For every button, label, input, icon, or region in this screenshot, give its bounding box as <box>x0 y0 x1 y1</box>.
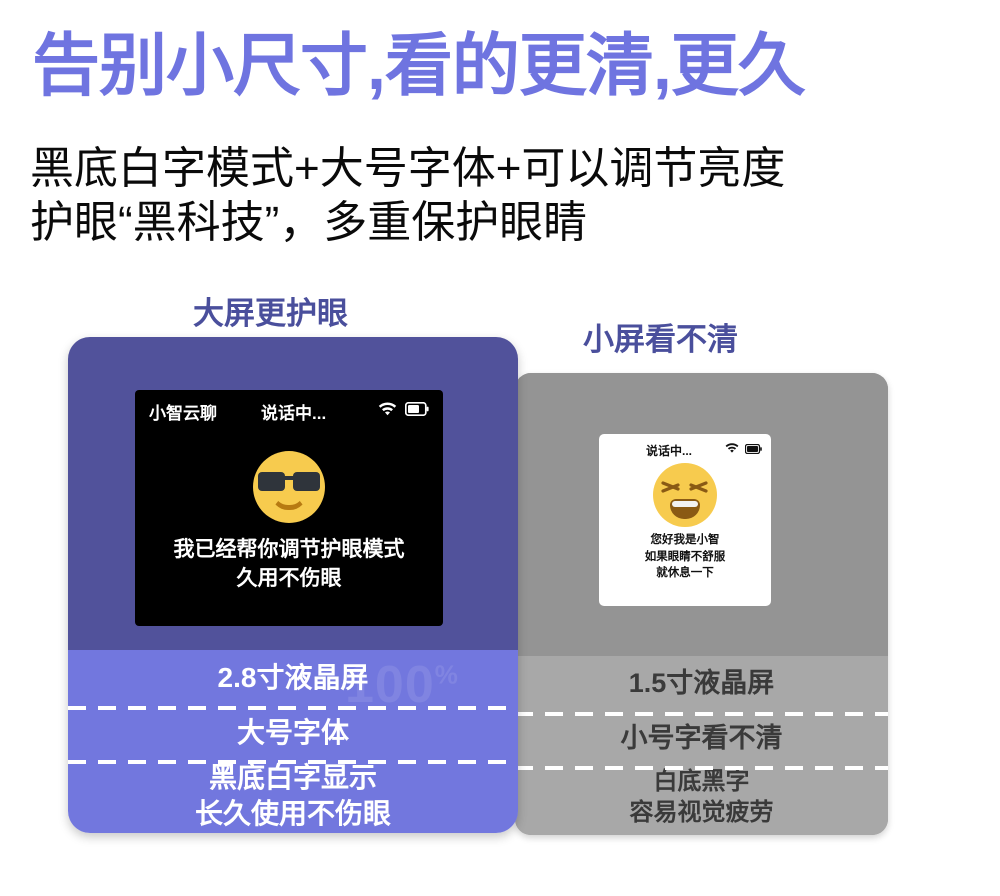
small-feature-3-line-1: 白底黑字 <box>630 766 774 797</box>
small-message-line-2: 如果眼睛不舒服 <box>645 549 726 566</box>
small-device-feature-rows: 1.5寸液晶屏 小号字看不清 白底黑字 容易视觉疲劳 <box>515 656 888 835</box>
row-divider-dashed <box>515 712 888 716</box>
page-title: 告别小尺寸,看的更清,更久 <box>32 32 805 100</box>
small-message-line-3: 就休息一下 <box>645 565 726 582</box>
weary-eye-left <box>661 480 681 496</box>
row-divider-dashed <box>68 706 518 710</box>
big-status-text: 说话中... <box>261 399 326 424</box>
big-feature-row-2: 大号字体 <box>68 706 518 760</box>
sunglasses-lens-left <box>258 472 285 491</box>
caption-big-screen: 大屏更护眼 <box>193 288 348 333</box>
big-device-card: 小智云聊 说话中... <box>68 337 518 833</box>
battery-icon <box>745 441 762 459</box>
big-feature-2-label: 大号字体 <box>237 715 349 751</box>
wifi-icon <box>378 402 397 422</box>
big-device-screen: 小智云聊 说话中... <box>135 390 443 626</box>
battery-icon <box>405 402 429 421</box>
weary-mouth <box>670 499 700 519</box>
weary-face-emoji <box>653 463 717 527</box>
small-feature-row-2: 小号字看不清 <box>515 712 888 766</box>
sunglasses-icon <box>258 472 320 491</box>
smiling-face-with-sunglasses-emoji <box>253 451 325 523</box>
big-feature-3-line-1: 黑底白字显示 <box>195 760 391 796</box>
small-statusbar: 说话中... <box>599 434 771 459</box>
big-feature-1-label: 2.8寸液晶屏 <box>218 660 369 696</box>
big-feature-row-1: 2.8寸液晶屏 <box>68 650 518 706</box>
small-device-screen: 说话中... <box>599 434 771 606</box>
big-feature-row-3: 黑底白字显示 长久使用不伤眼 <box>68 760 518 833</box>
small-feature-2-label: 小号字看不清 <box>621 721 783 756</box>
big-app-name: 小智云聊 <box>149 399 217 424</box>
big-statusbar: 小智云聊 说话中... <box>135 390 443 424</box>
small-screen-body: 您好我是小智 如果眼睛不舒服 就休息一下 <box>599 459 771 606</box>
big-message-line-1: 我已经帮你调节护眼模式 <box>174 535 405 564</box>
caption-small-screen: 小屏看不清 <box>583 314 738 359</box>
small-screen-message: 您好我是小智 如果眼睛不舒服 就休息一下 <box>645 532 726 582</box>
subtitle-line-1: 黑底白字模式+大号字体+可以调节亮度 <box>30 142 785 196</box>
small-message-line-1: 您好我是小智 <box>645 532 726 549</box>
row-divider-dashed <box>515 766 888 770</box>
sunglasses-lens-right <box>293 472 320 491</box>
small-feature-3-label: 白底黑字 容易视觉疲劳 <box>630 766 774 828</box>
big-status-icons <box>378 402 429 422</box>
small-feature-1-label: 1.5寸液晶屏 <box>629 666 775 701</box>
small-device-top: 说话中... <box>515 373 888 656</box>
page-subtitle: 黑底白字模式+大号字体+可以调节亮度 护眼“黑科技”，多重保护眼睛 <box>30 142 785 249</box>
big-screen-body: 我已经帮你调节护眼模式 久用不伤眼 <box>135 424 443 626</box>
small-feature-row-3: 白底黑字 容易视觉疲劳 <box>515 766 888 828</box>
wifi-icon <box>725 441 739 459</box>
subtitle-line-2: 护眼“黑科技”，多重保护眼睛 <box>30 196 785 250</box>
big-device-feature-rows: 2.8寸液晶屏 大号字体 黑底白字显示 长久使用不伤眼 <box>68 650 518 833</box>
small-device-card: 说话中... <box>515 373 888 835</box>
weary-eye-right <box>689 480 709 496</box>
big-feature-3-line-2: 长久使用不伤眼 <box>195 796 391 832</box>
small-status-text: 说话中... <box>646 442 692 459</box>
big-message-line-2: 久用不伤眼 <box>174 564 405 593</box>
big-device-top: 小智云聊 说话中... <box>68 337 518 650</box>
big-screen-message: 我已经帮你调节护眼模式 久用不伤眼 <box>174 535 405 594</box>
row-divider-dashed <box>68 760 518 764</box>
small-feature-row-1: 1.5寸液晶屏 <box>515 656 888 712</box>
small-feature-3-line-2: 容易视觉疲劳 <box>630 797 774 828</box>
big-feature-3-label: 黑底白字显示 长久使用不伤眼 <box>195 760 391 833</box>
promo-page: 告别小尺寸,看的更清,更久 黑底白字模式+大号字体+可以调节亮度 护眼“黑科技”… <box>0 0 1000 896</box>
emoji-smile <box>271 493 307 510</box>
